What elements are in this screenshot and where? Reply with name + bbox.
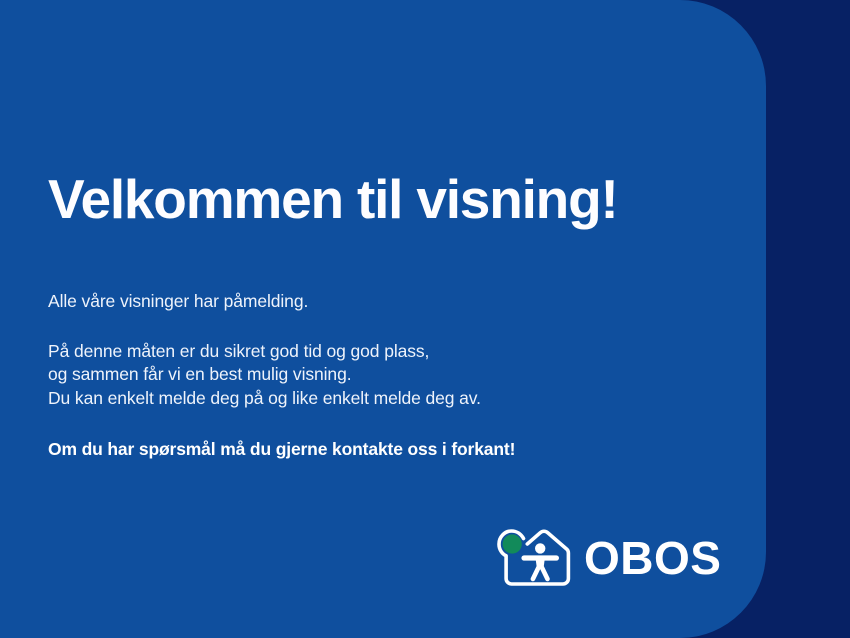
obos-wordmark: OBOS	[584, 535, 721, 581]
detail-line-3: Du kan enkelt melde deg på og like enkel…	[48, 387, 708, 411]
detail-line-2: og sammen får vi en best mulig visning.	[48, 363, 708, 387]
detail-line-1: På denne måten er du sikret god tid og g…	[48, 340, 708, 364]
slide-root: Velkommen til visning! Alle våre visning…	[0, 0, 850, 638]
obos-house-person-icon	[497, 529, 571, 587]
green-dot-icon	[503, 534, 522, 553]
obos-logo: OBOS	[497, 527, 759, 589]
body-text-block: Alle våre visninger har påmelding. På de…	[48, 290, 708, 462]
content-area: Velkommen til visning! Alle våre visning…	[48, 0, 748, 638]
page-title: Velkommen til visning!	[48, 172, 618, 227]
contact-callout: Om du har spørsmål må du gjerne kontakte…	[48, 438, 708, 462]
intro-paragraph: Alle våre visninger har påmelding.	[48, 290, 708, 314]
